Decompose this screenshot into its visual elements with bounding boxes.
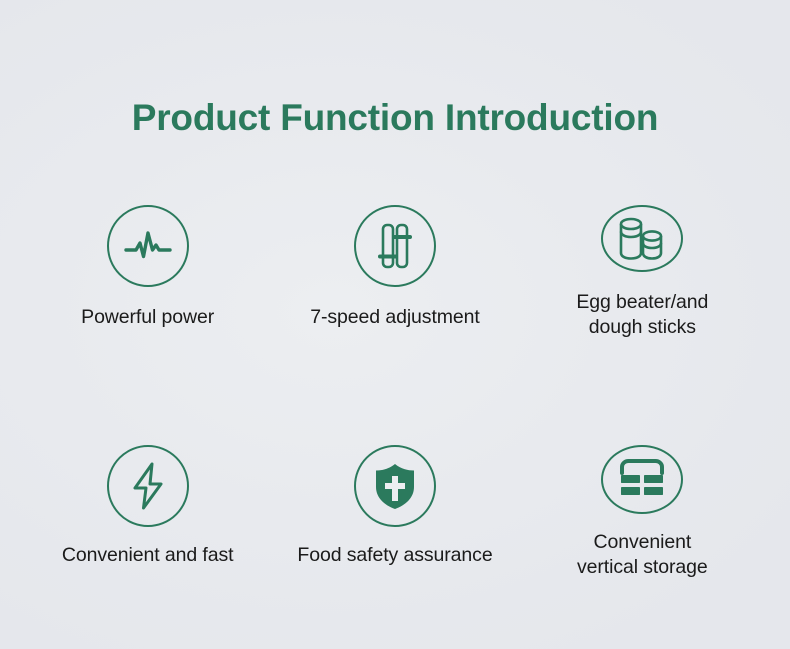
feature-grid: Powerful power 7-speed adjustment (24, 205, 766, 580)
feature-item-food-safety[interactable]: Food safety assurance (271, 445, 518, 580)
feature-item-powerful-power[interactable]: Powerful power (24, 205, 271, 340)
feature-label: Convenient and fast (62, 543, 234, 568)
feature-item-convenient-fast[interactable]: Convenient and fast (24, 445, 271, 580)
feature-item-speed-adjustment[interactable]: 7-speed adjustment (271, 205, 518, 340)
shield-check-icon (354, 445, 436, 527)
vertical-storage-rack-icon (601, 445, 683, 514)
feature-item-vertical-storage[interactable]: Convenient vertical storage (519, 445, 766, 580)
page-title: Product Function Introduction (0, 98, 790, 139)
lightning-bolt-icon (107, 445, 189, 527)
beater-cylinders-icon (601, 205, 683, 272)
feature-label: Convenient vertical storage (577, 530, 708, 580)
speed-sliders-icon (354, 205, 436, 287)
feature-label: Egg beater/and dough sticks (576, 290, 708, 340)
feature-label: Food safety assurance (297, 543, 492, 568)
feature-label: 7-speed adjustment (310, 305, 479, 330)
feature-label: Powerful power (81, 305, 214, 330)
pulse-waveform-icon (107, 205, 189, 287)
product-function-introduction-panel: Product Function Introduction Powerful p… (0, 0, 790, 649)
feature-item-egg-beater[interactable]: Egg beater/and dough sticks (519, 205, 766, 340)
